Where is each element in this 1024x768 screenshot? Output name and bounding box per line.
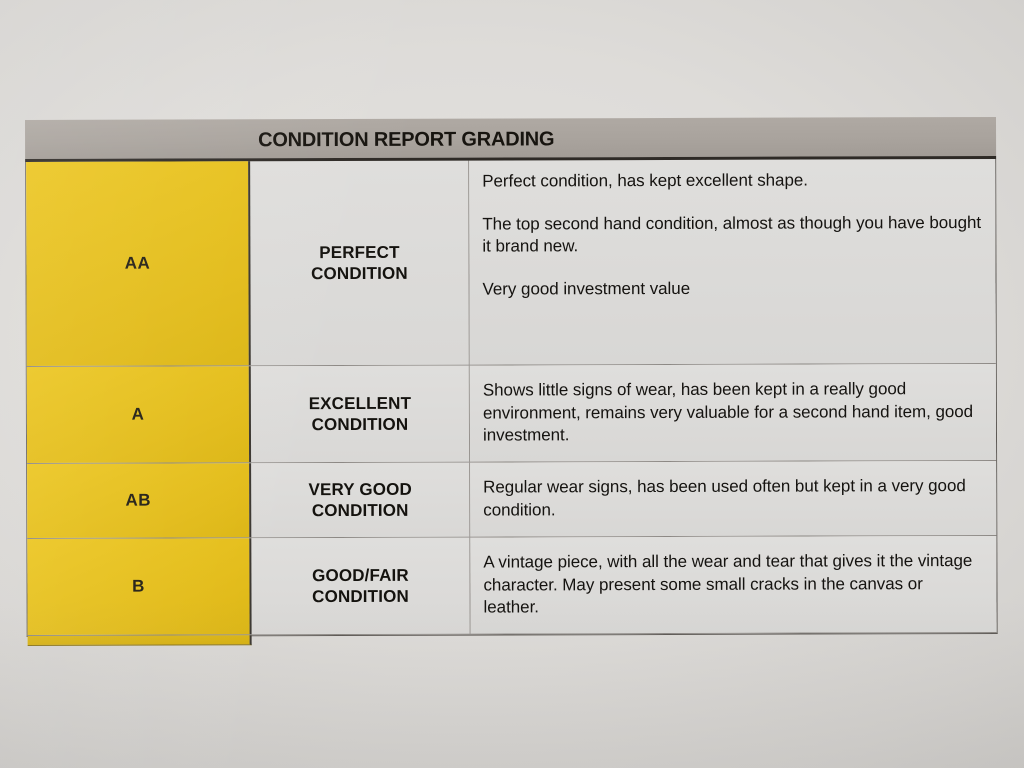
table-row-aa: AA PERFECT CONDITION Perfect condition, … bbox=[26, 159, 996, 367]
description-paragraph: A vintage piece, with all the wear and t… bbox=[483, 550, 982, 619]
grade-cell-b: B bbox=[27, 538, 251, 635]
grade-label-b: B bbox=[132, 577, 145, 597]
grade-cell-a: A bbox=[27, 366, 251, 463]
grade-label-a: A bbox=[132, 405, 145, 425]
grade-cell-ab: AB bbox=[27, 463, 251, 538]
condition-cell-a: EXCELLENT CONDITION bbox=[251, 366, 470, 463]
condition-label-aa: PERFECT CONDITION bbox=[311, 242, 408, 285]
condition-label-a-line2: CONDITION bbox=[312, 415, 409, 434]
condition-label-b-line2: CONDITION bbox=[312, 587, 409, 606]
description-paragraph: Perfect condition, has kept excellent sh… bbox=[482, 169, 981, 193]
condition-cell-aa: PERFECT CONDITION bbox=[250, 161, 470, 366]
description-paragraph: Regular wear signs, has been used often … bbox=[483, 475, 982, 522]
table-row-b: B GOOD/FAIR CONDITION A vintage piece, w… bbox=[27, 536, 996, 636]
condition-label-aa-line2: CONDITION bbox=[311, 264, 408, 283]
description-paragraph: The top second hand condition, almost as… bbox=[482, 212, 981, 259]
table-row-ab: AB VERY GOOD CONDITION Regular wear sign… bbox=[27, 461, 996, 539]
condition-label-ab-line1: VERY GOOD bbox=[308, 480, 411, 499]
condition-label-b: GOOD/FAIR CONDITION bbox=[312, 565, 409, 608]
grade-label-ab: AB bbox=[125, 491, 150, 511]
table-header-band: CONDITION REPORT GRADING bbox=[25, 117, 996, 162]
table-row-a: A EXCELLENT CONDITION Shows little signs… bbox=[27, 364, 996, 464]
description-cell-a: Shows little signs of wear, has been kep… bbox=[470, 364, 996, 462]
condition-label-ab-line2: CONDITION bbox=[312, 501, 409, 520]
grade-label-aa: AA bbox=[125, 254, 150, 274]
table-body: AA PERFECT CONDITION Perfect condition, … bbox=[25, 159, 997, 637]
condition-label-b-line1: GOOD/FAIR bbox=[312, 566, 409, 585]
description-cell-b: A vintage piece, with all the wear and t… bbox=[470, 536, 996, 634]
condition-report-grading-table: CONDITION REPORT GRADING AA PERFECT COND… bbox=[25, 117, 998, 637]
document-page: CONDITION REPORT GRADING AA PERFECT COND… bbox=[0, 0, 1024, 768]
description-paragraph: Shows little signs of wear, has been kep… bbox=[483, 378, 982, 447]
condition-label-a-line1: EXCELLENT bbox=[309, 394, 411, 413]
condition-cell-b: GOOD/FAIR CONDITION bbox=[251, 538, 470, 635]
grade-cell-aa: AA bbox=[26, 161, 251, 366]
description-cell-aa: Perfect condition, has kept excellent sh… bbox=[469, 159, 996, 365]
condition-label-aa-line1: PERFECT bbox=[319, 243, 399, 262]
condition-cell-ab: VERY GOOD CONDITION bbox=[251, 463, 470, 538]
condition-label-ab: VERY GOOD CONDITION bbox=[308, 479, 412, 522]
condition-label-a: EXCELLENT CONDITION bbox=[309, 393, 412, 436]
description-cell-ab: Regular wear signs, has been used often … bbox=[470, 461, 996, 537]
description-paragraph: Very good investment value bbox=[482, 277, 981, 301]
table-title: CONDITION REPORT GRADING bbox=[258, 128, 554, 152]
grade-column-bottom-edge bbox=[28, 635, 252, 646]
